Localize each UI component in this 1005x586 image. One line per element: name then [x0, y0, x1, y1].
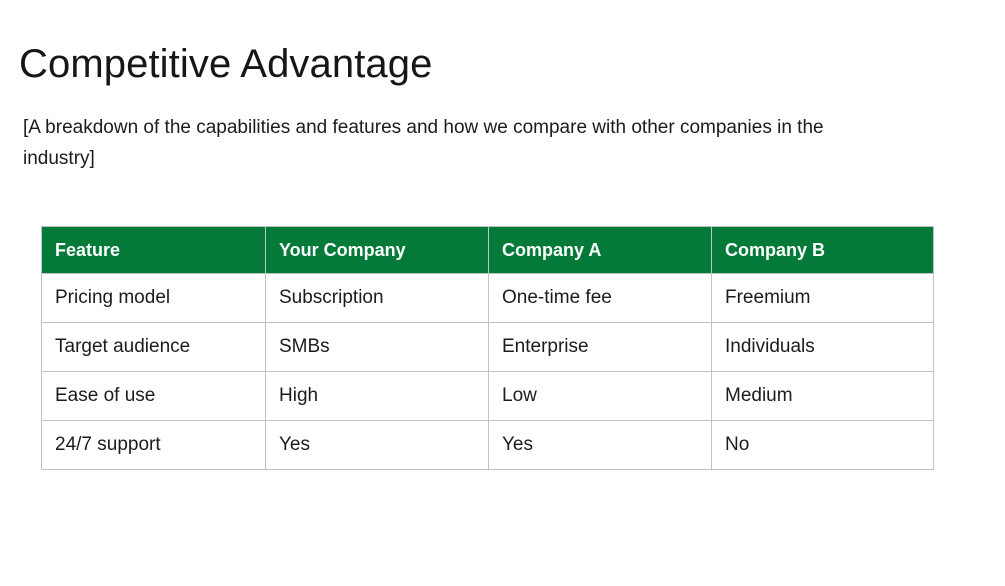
cell-company-a: One-time fee — [489, 274, 712, 323]
cell-company-b: Freemium — [712, 274, 934, 323]
table-row: Pricing model Subscription One-time fee … — [42, 274, 934, 323]
cell-company-b: No — [712, 421, 934, 470]
slide-canvas: Competitive Advantage [A breakdown of th… — [0, 0, 1005, 586]
cell-your-company: SMBs — [266, 323, 489, 372]
cell-company-a: Yes — [489, 421, 712, 470]
cell-company-b: Individuals — [712, 323, 934, 372]
table-body: Pricing model Subscription One-time fee … — [42, 274, 934, 470]
cell-your-company: Yes — [266, 421, 489, 470]
cell-feature: Ease of use — [42, 372, 266, 421]
page-title: Competitive Advantage — [19, 38, 432, 90]
table-header-row: Feature Your Company Company A Company B — [42, 227, 934, 274]
cell-your-company: High — [266, 372, 489, 421]
competitive-comparison-table: Feature Your Company Company A Company B… — [41, 226, 934, 470]
table-header: Feature Your Company Company A Company B — [42, 227, 934, 274]
column-header-your-company: Your Company — [266, 227, 489, 274]
table-row: Ease of use High Low Medium — [42, 372, 934, 421]
cell-your-company: Subscription — [266, 274, 489, 323]
column-header-company-a: Company A — [489, 227, 712, 274]
cell-company-b: Medium — [712, 372, 934, 421]
table-row: Target audience SMBs Enterprise Individu… — [42, 323, 934, 372]
cell-feature: Target audience — [42, 323, 266, 372]
slide-subtitle: [A breakdown of the capabilities and fea… — [23, 112, 853, 174]
cell-company-a: Low — [489, 372, 712, 421]
column-header-company-b: Company B — [712, 227, 934, 274]
comparison-table-container: Feature Your Company Company A Company B… — [41, 226, 933, 470]
table-row: 24/7 support Yes Yes No — [42, 421, 934, 470]
cell-feature: Pricing model — [42, 274, 266, 323]
cell-company-a: Enterprise — [489, 323, 712, 372]
cell-feature: 24/7 support — [42, 421, 266, 470]
column-header-feature: Feature — [42, 227, 266, 274]
